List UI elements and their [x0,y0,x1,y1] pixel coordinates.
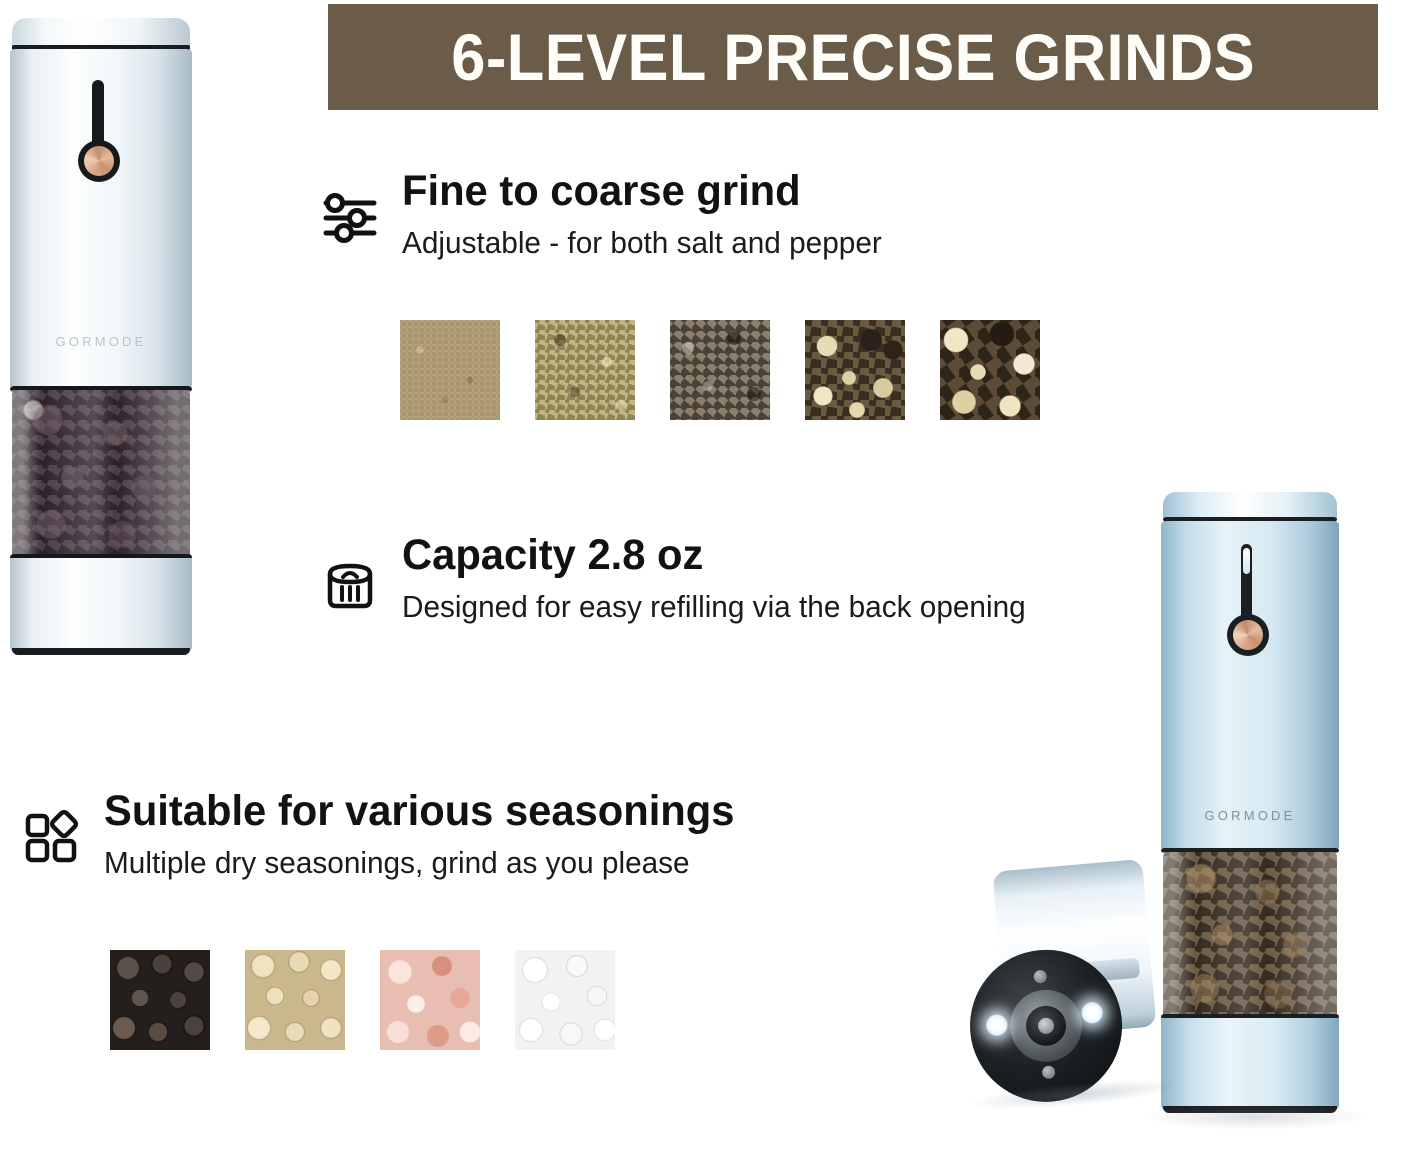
grind-swatch [805,320,905,420]
grind-swatch [670,320,770,420]
container-icon [322,556,378,617]
brand-label: GORMODE [10,334,192,349]
feature-subheading: Multiple dry seasonings, grind as you pl… [104,847,728,878]
header-banner: 6-LEVEL PRECISE GRINDS [328,4,1378,110]
seasoning-swatch [380,950,480,1050]
grind-swatch [400,320,500,420]
grinder-base-foot [12,648,190,655]
feature-heading: Capacity 2.8 oz [402,534,1032,577]
product-image-lying-grinder [940,846,1190,1110]
sliders-icon [322,192,378,249]
pepper-chamber-window [12,390,190,558]
feature-heading: Suitable for various seasonings [104,790,734,833]
product-shadow [1140,1104,1370,1130]
grinder-cap [12,18,190,48]
grinder-power-button [84,146,114,176]
seasoning-swatch [110,950,210,1050]
feature-subheading: Adjustable - for both salt and pepper [402,227,882,258]
feature-block-grind: Fine to coarse grind Adjustable - for bo… [402,170,902,258]
grid-shapes-icon [24,810,80,871]
seasoning-swatch [515,950,615,1050]
seasoning-swatch [245,950,345,1050]
banner-title: 6-LEVEL PRECISE GRINDS [451,19,1255,95]
grind-swatch [940,320,1040,420]
grinder-light-indicator [1243,548,1250,574]
grinder-cap [1163,492,1337,520]
grinder-power-button [1233,620,1263,650]
product-image-main-grinder: GORMODE [6,18,196,658]
grind-level-swatch-row [400,320,1040,420]
feature-block-seasonings: Suitable for various seasonings Multiple… [104,790,754,878]
product-image-right-grinder: GORMODE [1157,492,1343,1122]
pepper-chamber-window [1163,852,1337,1018]
feature-block-capacity: Capacity 2.8 oz Designed for easy refill… [402,534,1052,622]
seasoning-swatch-row [110,950,615,1050]
grind-swatch [535,320,635,420]
feature-subheading: Designed for easy refilling via the back… [402,591,1026,622]
feature-heading: Fine to coarse grind [402,170,887,213]
grinder-lower-body [10,558,192,654]
brand-label: GORMODE [1161,808,1339,823]
